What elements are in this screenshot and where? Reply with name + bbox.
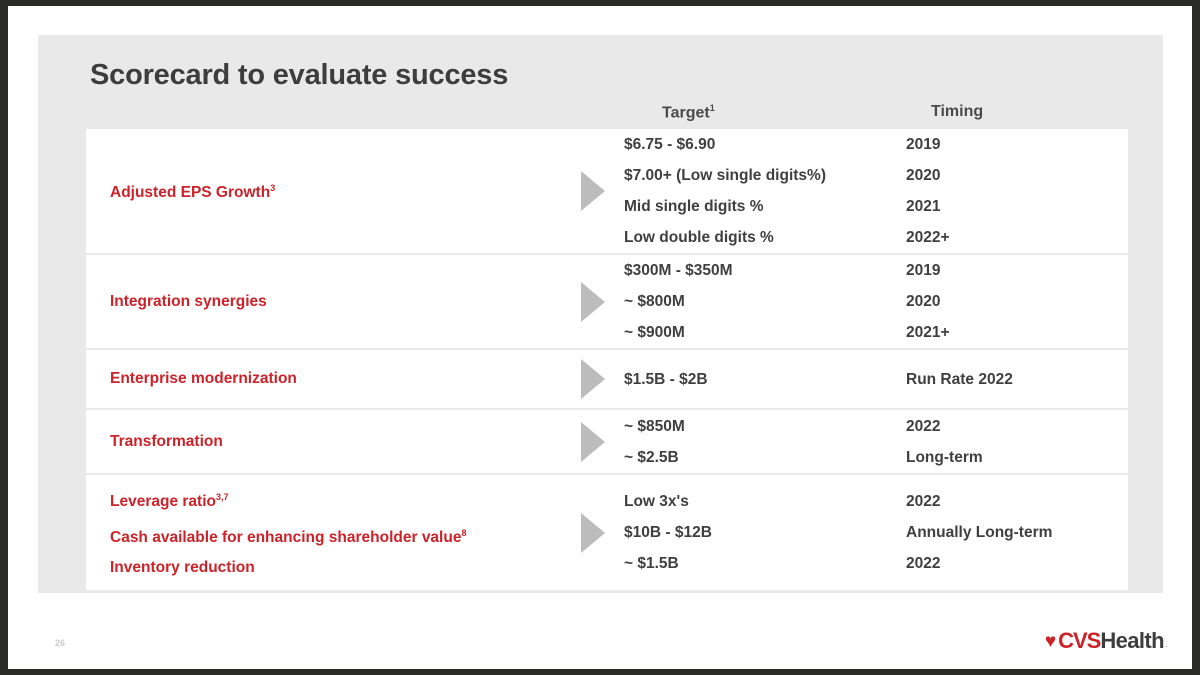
row-label: Adjusted EPS Growth3 [110, 173, 562, 208]
arrow-right-icon [581, 513, 605, 553]
row-arrow-cell [562, 255, 624, 348]
logo-trademark: · [1165, 641, 1168, 651]
target-value: $1.5B - $2B [624, 364, 906, 395]
value-row: ~ $2.5BLong-term [624, 442, 1128, 473]
row-label-text: Adjusted EPS Growth [110, 185, 270, 202]
row-arrow-cell [562, 129, 624, 253]
cvs-health-logo: ♥ CVS Health · [1045, 628, 1168, 654]
column-header-target: Target1 [662, 103, 715, 122]
arrow-right-icon [581, 171, 605, 211]
timing-value: Long-term [906, 442, 1128, 473]
row-values-group: $300M - $350M2019~ $800M2020~ $900M2021+ [624, 255, 1128, 348]
timing-value: Annually Long-term [906, 517, 1128, 548]
target-value: Mid single digits % [624, 191, 906, 222]
row-label: Leverage ratio3,7 [110, 482, 562, 517]
row-arrow-cell [562, 410, 624, 473]
value-row: ~ $850M2022 [624, 411, 1128, 442]
row-label-group: Transformation [86, 410, 562, 473]
row-values-group: Low 3x's2022$10B - $12BAnnually Long-ter… [624, 475, 1128, 590]
row-label: Cash available for enhancing shareholder… [110, 518, 562, 553]
row-arrow-cell [562, 475, 624, 590]
logo-cvs-text: CVS [1058, 628, 1100, 654]
row-label-group: Enterprise modernization [86, 350, 562, 408]
value-row: $300M - $350M2019 [624, 255, 1128, 286]
column-header-target-footnote: 1 [710, 103, 715, 113]
page-title: Scorecard to evaluate success [90, 59, 508, 92]
row-label-text: Transformation [110, 433, 223, 450]
timing-value: 2019 [906, 129, 1128, 160]
row-label-text: Integration synergies [110, 293, 267, 310]
value-row: ~ $900M2021+ [624, 317, 1128, 348]
column-header-timing: Timing [931, 103, 983, 121]
timing-value: 2022+ [906, 222, 1128, 253]
row-label-group: Adjusted EPS Growth3 [86, 129, 562, 253]
table-row: Integration synergies$300M - $350M2019~ … [86, 255, 1128, 350]
table-row: Transformation~ $850M2022~ $2.5BLong-ter… [86, 410, 1128, 475]
timing-value: 2022 [906, 411, 1128, 442]
row-label: Transformation [110, 427, 562, 457]
timing-value: 2021+ [906, 317, 1128, 348]
heart-icon: ♥ [1045, 632, 1056, 651]
row-label-text: Inventory reduction [110, 559, 255, 576]
row-arrow-cell [562, 350, 624, 408]
value-row: $10B - $12BAnnually Long-term [624, 517, 1128, 548]
value-row: $6.75 - $6.902019 [624, 129, 1128, 160]
timing-value: Run Rate 2022 [906, 364, 1128, 395]
slide-page: Scorecard to evaluate success Target1 Ti… [8, 6, 1192, 669]
target-value: $300M - $350M [624, 255, 906, 286]
timing-value: 2022 [906, 548, 1128, 579]
target-value: Low 3x's [624, 486, 906, 517]
arrow-right-icon [581, 282, 605, 322]
target-value: Low double digits % [624, 222, 906, 253]
timing-value: 2019 [906, 255, 1128, 286]
value-row: $7.00+ (Low single digits%)2020 [624, 160, 1128, 191]
scorecard-table: Adjusted EPS Growth3$6.75 - $6.902019$7.… [86, 129, 1128, 590]
arrow-right-icon [581, 359, 605, 399]
value-row: Low 3x's2022 [624, 486, 1128, 517]
row-label: Inventory reduction [110, 553, 562, 583]
value-row: ~ $800M2020 [624, 286, 1128, 317]
value-row: Mid single digits %2021 [624, 191, 1128, 222]
arrow-right-icon [581, 422, 605, 462]
column-headers: Target1 Timing [86, 103, 1128, 131]
slide-frame: Scorecard to evaluate success Target1 Ti… [0, 0, 1200, 675]
target-value: ~ $900M [624, 317, 906, 348]
target-value: ~ $850M [624, 411, 906, 442]
timing-value: 2022 [906, 486, 1128, 517]
row-label-text: Cash available for enhancing shareholder… [110, 529, 461, 546]
row-label-footnote: 3,7 [216, 492, 229, 502]
target-value: $6.75 - $6.90 [624, 129, 906, 160]
timing-value: 2020 [906, 160, 1128, 191]
column-header-target-label: Target [662, 104, 710, 121]
target-value: ~ $2.5B [624, 442, 906, 473]
row-values-group: $6.75 - $6.902019$7.00+ (Low single digi… [624, 129, 1128, 253]
table-row: Adjusted EPS Growth3$6.75 - $6.902019$7.… [86, 129, 1128, 255]
value-row: Low double digits %2022+ [624, 222, 1128, 253]
logo-health-text: Health [1100, 628, 1164, 654]
table-row: Enterprise modernization$1.5B - $2BRun R… [86, 350, 1128, 410]
timing-value: 2021 [906, 191, 1128, 222]
page-number: 26 [55, 638, 65, 648]
target-value: $7.00+ (Low single digits%) [624, 160, 906, 191]
row-values-group: $1.5B - $2BRun Rate 2022 [624, 350, 1128, 408]
row-label-footnote: 8 [461, 528, 466, 538]
target-value: $10B - $12B [624, 517, 906, 548]
row-values-group: ~ $850M2022~ $2.5BLong-term [624, 410, 1128, 473]
value-row: $1.5B - $2BRun Rate 2022 [624, 364, 1128, 395]
row-label-group: Integration synergies [86, 255, 562, 348]
row-label-text: Enterprise modernization [110, 370, 297, 387]
target-value: ~ $1.5B [624, 548, 906, 579]
table-row: Leverage ratio3,7Cash available for enha… [86, 475, 1128, 590]
row-label-footnote: 3 [270, 183, 275, 193]
timing-value: 2020 [906, 286, 1128, 317]
content-panel: Scorecard to evaluate success Target1 Ti… [38, 35, 1163, 593]
row-label-text: Leverage ratio [110, 494, 216, 511]
target-value: ~ $800M [624, 286, 906, 317]
row-label: Integration synergies [110, 287, 562, 317]
row-label: Enterprise modernization [110, 364, 562, 394]
row-label-group: Leverage ratio3,7Cash available for enha… [86, 475, 562, 590]
value-row: ~ $1.5B2022 [624, 548, 1128, 579]
